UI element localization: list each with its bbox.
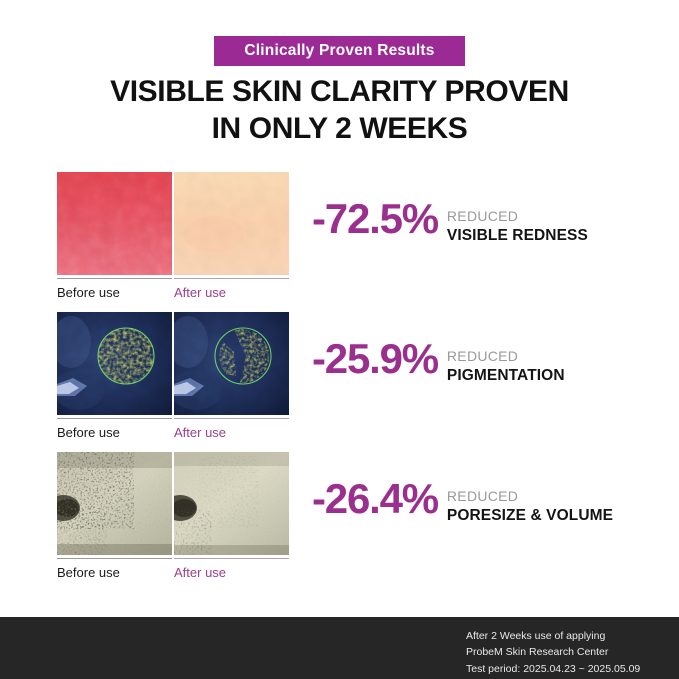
poresize-after-thumbnail <box>174 452 289 555</box>
thumbnail-divider-after <box>174 418 289 419</box>
thumbnail-pair: Before use After use <box>57 452 289 572</box>
poresize-before-image <box>57 452 172 555</box>
poresize-before-thumbnail <box>57 452 172 555</box>
pigmentation-before-image <box>57 312 172 415</box>
footer-line-1: After 2 Weeks use of applying <box>466 628 640 644</box>
thumbnail-divider-after <box>174 558 289 559</box>
stat-label-group: REDUCED VISIBLE REDNESS <box>447 208 588 245</box>
stat-redness: -72.5% REDUCED VISIBLE REDNESS <box>312 198 588 257</box>
stat-label-group: REDUCED PORESIZE & VOLUME <box>447 488 613 525</box>
stat-percent: -26.4% <box>312 478 438 520</box>
result-row-pigmentation: Before use After use -25.9% REDUCED PIGM… <box>0 312 679 432</box>
pigmentation-uv-before-thumbnail <box>57 312 172 415</box>
caption-before-use: Before use <box>57 564 120 582</box>
caption-after-use: After use <box>174 284 226 302</box>
clinically-proven-badge: Clinically Proven Results <box>214 36 464 66</box>
redness-before-thumbnail <box>57 172 172 275</box>
redness-after-thumbnail <box>174 172 289 275</box>
footer-bar: After 2 Weeks use of applying ProbeM Ski… <box>0 617 679 679</box>
stat-reduced-label: REDUCED <box>447 348 565 366</box>
thumbnail-pair: Before use After use <box>57 312 289 432</box>
result-row-redness: Before use After use -72.5% REDUCED VISI… <box>0 172 679 292</box>
stat-metric-label: PORESIZE & VOLUME <box>447 506 613 525</box>
result-row-poresize: Before use After use -26.4% REDUCED PORE… <box>0 452 679 572</box>
thumbnail-divider-before <box>57 418 172 419</box>
footer-line-3: Test period: 2025.04.23 ~ 2025.05.09 <box>466 661 640 677</box>
stat-label-group: REDUCED PIGMENTATION <box>447 348 565 385</box>
caption-before-use: Before use <box>57 284 120 302</box>
page-title: VISIBLE SKIN CLARITY PROVEN IN ONLY 2 WE… <box>0 74 679 147</box>
pigmentation-after-image <box>174 312 289 415</box>
headline-line-2: IN ONLY 2 WEEKS <box>0 111 679 148</box>
footer-disclaimer: After 2 Weeks use of applying ProbeM Ski… <box>466 628 640 677</box>
stat-pigmentation: -25.9% REDUCED PIGMENTATION <box>312 338 565 397</box>
pigmentation-uv-after-thumbnail <box>174 312 289 415</box>
stat-percent: -72.5% <box>312 198 438 240</box>
thumbnail-divider-before <box>57 278 172 279</box>
caption-after-use: After use <box>174 424 226 442</box>
thumbnail-divider-before <box>57 558 172 559</box>
stat-percent: -25.9% <box>312 338 438 380</box>
poresize-after-image <box>174 452 289 555</box>
stat-reduced-label: REDUCED <box>447 208 588 226</box>
redness-before-image <box>57 172 172 275</box>
stat-metric-label: PIGMENTATION <box>447 366 565 385</box>
redness-after-image <box>174 172 289 275</box>
headline-line-1: VISIBLE SKIN CLARITY PROVEN <box>110 75 569 108</box>
footer-line-2: ProbeM Skin Research Center <box>466 644 640 660</box>
caption-before-use: Before use <box>57 424 120 442</box>
stat-poresize: -26.4% REDUCED PORESIZE & VOLUME <box>312 478 613 537</box>
thumbnail-divider-after <box>174 278 289 279</box>
stat-reduced-label: REDUCED <box>447 488 613 506</box>
caption-after-use: After use <box>174 564 226 582</box>
thumbnail-pair: Before use After use <box>57 172 289 292</box>
stat-metric-label: VISIBLE REDNESS <box>447 226 588 245</box>
badge-container: Clinically Proven Results <box>0 36 679 66</box>
